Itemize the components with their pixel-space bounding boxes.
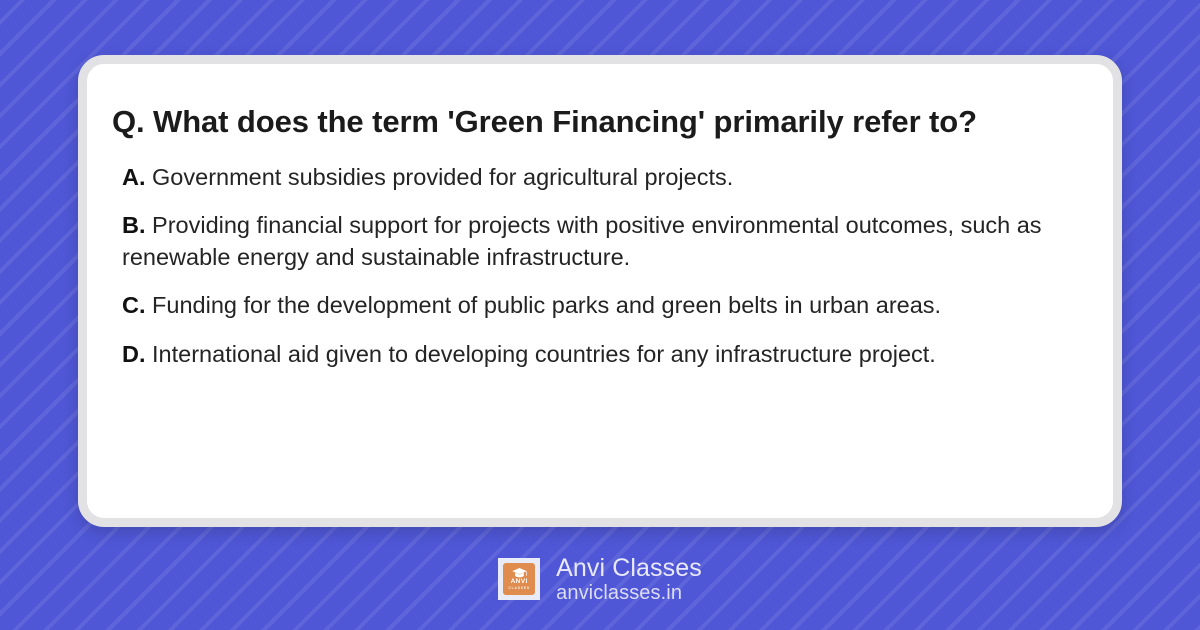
option-b[interactable]: B. Providing financial support for proje… <box>112 210 1057 273</box>
question-card: Q. What does the term 'Green Financing' … <box>78 55 1122 527</box>
brand-text-block: Anvi Classes anviclasses.in <box>556 554 702 604</box>
logo-subword: CLASSES <box>508 587 530 590</box>
option-a-text: Government subsidies provided for agricu… <box>152 164 733 190</box>
logo-tile: ANVI CLASSES <box>503 563 535 595</box>
option-d-text: International aid given to developing co… <box>152 341 936 367</box>
footer-branding: ANVI CLASSES Anvi Classes anviclasses.in <box>0 543 1200 615</box>
options-list: A. Government subsidies provided for agr… <box>112 162 1083 370</box>
brand-url[interactable]: anviclasses.in <box>556 582 702 604</box>
page-stage: Q. What does the term 'Green Financing' … <box>0 0 1200 630</box>
option-c-text: Funding for the development of public pa… <box>152 292 941 318</box>
option-a-letter: A. <box>122 164 146 190</box>
brand-logo: ANVI CLASSES <box>498 558 540 600</box>
option-c-letter: C. <box>122 292 146 318</box>
option-d-letter: D. <box>122 341 146 367</box>
option-a[interactable]: A. Government subsidies provided for agr… <box>112 162 1057 193</box>
option-c[interactable]: C. Funding for the development of public… <box>112 290 1057 321</box>
brand-name: Anvi Classes <box>556 554 702 582</box>
option-d[interactable]: D. International aid given to developing… <box>112 339 1057 370</box>
graduation-cap-icon <box>512 568 527 578</box>
question-text: Q. What does the term 'Green Financing' … <box>112 98 1052 146</box>
option-b-text: Providing financial support for projects… <box>122 212 1042 269</box>
option-b-letter: B. <box>122 212 146 238</box>
logo-word: ANVI <box>511 579 528 586</box>
